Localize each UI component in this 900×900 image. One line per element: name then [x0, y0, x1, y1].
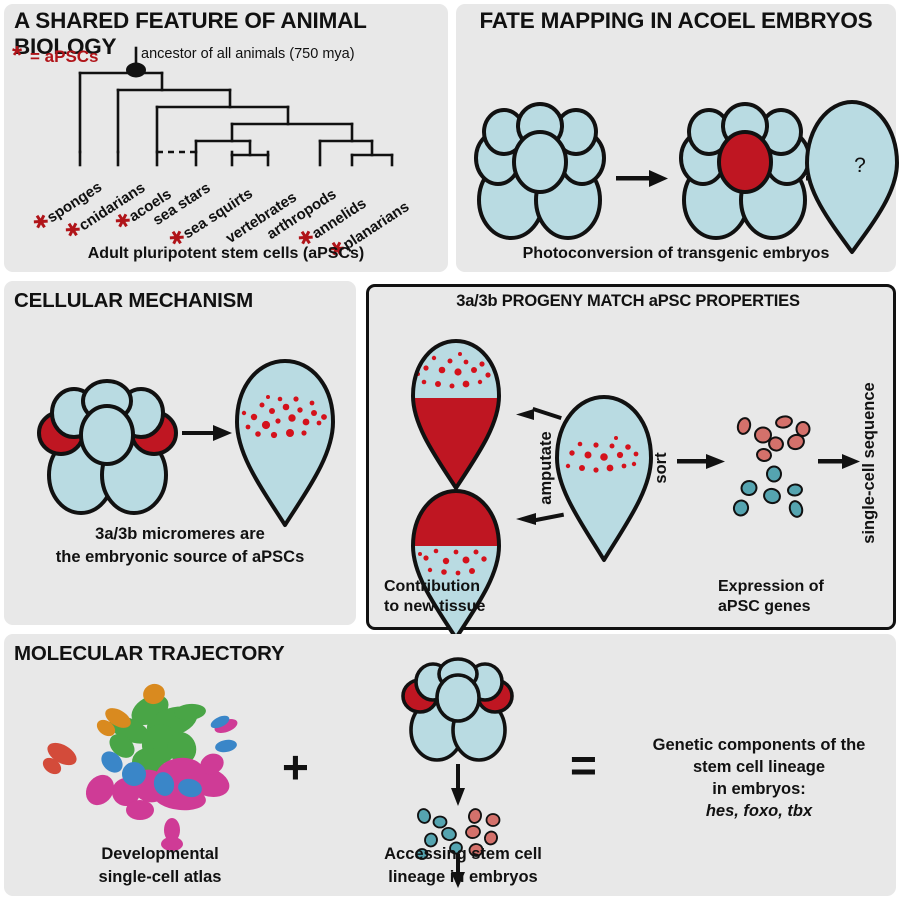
larva-with-stem-cells	[237, 361, 333, 525]
arrow-down-1	[451, 764, 465, 806]
umap-cluster-red-outlier	[40, 738, 81, 777]
question-mark-label: ?	[854, 154, 866, 177]
label-amputate: amputate	[537, 431, 555, 504]
sorted-cells	[732, 415, 810, 519]
panel-progeny-caption-left-line2: to new tissue	[384, 598, 554, 616]
label-sort: sort	[652, 452, 670, 484]
fate-mapping-diagram: ?	[456, 70, 896, 250]
embryo-with-micromeres-small	[403, 659, 512, 760]
panel-progeny-caption-right-line2: aPSC genes	[718, 598, 868, 616]
result-line2: stem cell lineage	[624, 758, 894, 777]
panel-cellular-mechanism-caption-line1: 3a/3b micromeres are	[4, 525, 356, 544]
result-line3: in embryos:	[624, 780, 894, 799]
panel-shared-feature-caption: Adult pluripotent stem cells (aPSCs)	[4, 245, 448, 263]
caption-atlas-line2: single-cell atlas	[50, 868, 270, 887]
single-cell-atlas-umap	[30, 662, 290, 852]
panel-cellular-mechanism-caption-line2: the embryonic source of aPSCs	[4, 548, 356, 567]
result-genes: hes, foxo, tbx	[624, 802, 894, 821]
panel-fate-mapping-title: FATE MAPPING IN ACOEL EMBRYOS	[456, 8, 896, 34]
panel-fate-mapping-caption: Photoconversion of transgenic embryos	[456, 245, 896, 263]
panel-progeny-caption-left-line1: Contribution	[384, 578, 534, 596]
arrow-sort	[677, 454, 725, 469]
photoconverted-cell	[719, 132, 771, 192]
arrow-right-1	[616, 170, 668, 187]
embryo-one-red-cell	[681, 104, 809, 238]
caption-access-line1: Accessing stem cell	[348, 845, 578, 864]
arrow-amputate-bottom	[516, 513, 564, 525]
ancestor-node	[126, 63, 146, 78]
panel-cellular-mechanism-title: CELLULAR MECHANISM	[14, 289, 354, 313]
embryo-plain	[476, 104, 604, 238]
accessing-lineage-diagram	[345, 668, 575, 868]
phylogenetic-tree	[0, 45, 450, 220]
result-line1: Genetic components of the	[624, 736, 894, 755]
intact-larva-with-stem-cells	[557, 397, 651, 560]
panel-progeny-title: 3a/3b PROGENY MATCH aPSC PROPERTIES	[366, 292, 890, 311]
panel-progeny-caption-right-line1: Expression of	[718, 578, 868, 596]
label-single-cell-sequence: single-cell sequence	[860, 382, 878, 543]
graphical-abstract: A SHARED FEATURE OF ANIMAL BIOLOGY * = a…	[0, 0, 900, 900]
larva-teardrop	[807, 102, 897, 252]
equals-sign: =	[570, 738, 597, 792]
arrow-right-3	[182, 425, 232, 441]
caption-atlas-line1: Developmental	[50, 845, 270, 864]
plus-sign: +	[282, 740, 309, 794]
arrow-sequence	[818, 454, 860, 469]
progeny-diagram: amputate sort	[366, 318, 890, 618]
caption-access-line2: lineage in embryos	[348, 868, 578, 887]
amputated-larva-top	[406, 328, 516, 508]
arrow-amputate-top	[516, 407, 562, 420]
embryo-with-3a3b-micromeres	[39, 381, 176, 513]
